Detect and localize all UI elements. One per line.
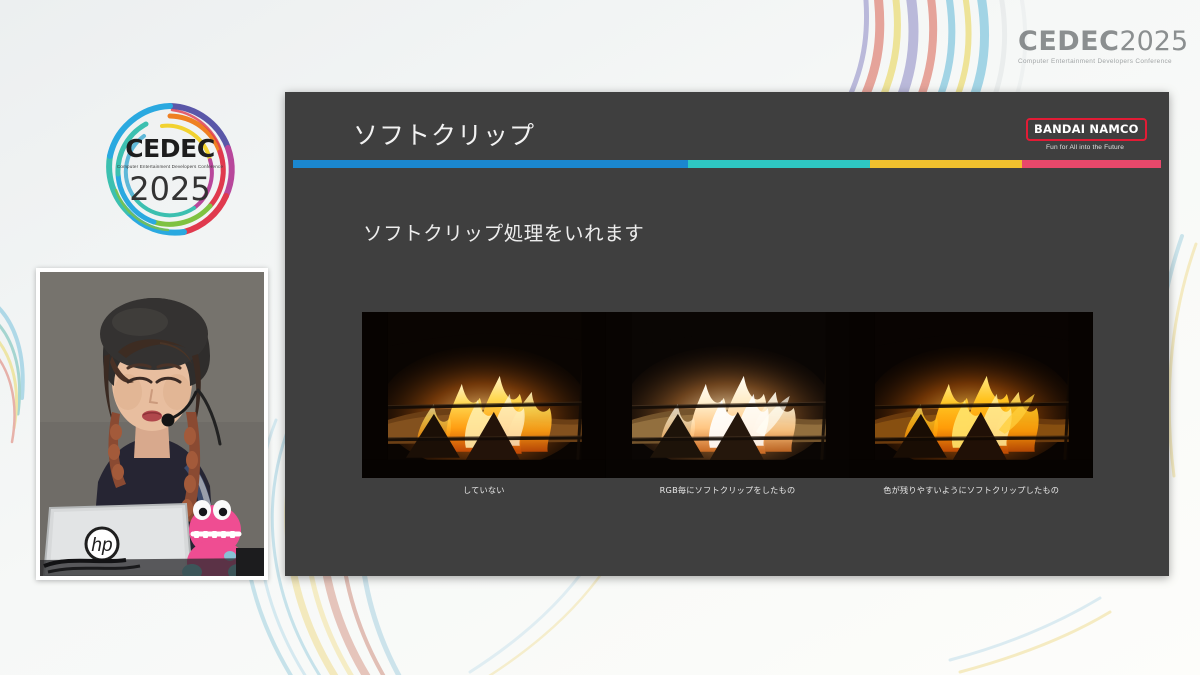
accent-segment-yellow <box>870 160 1022 168</box>
bandai-namco-name: BANDAI NAMCO <box>1034 122 1139 136</box>
cedec-wordmark-year: 2025 <box>1119 26 1188 57</box>
slide-accent-bar <box>293 160 1161 168</box>
caption-color-preserving-clip: 色が残りやすいようにソフトクリップしたもの <box>849 484 1093 496</box>
fire-comparison-strip <box>362 312 1093 478</box>
cedec-circle-logo: CEDEC Computer Entertainment Developers … <box>98 98 242 242</box>
cedec-logo-center-text: CEDEC Computer Entertainment Developers … <box>98 98 242 242</box>
bandai-namco-tagline: Fun for All into the Future <box>1026 144 1144 151</box>
cedec-wordmark-main: CEDEC2025 <box>1018 28 1178 55</box>
accent-segment-teal <box>688 160 870 168</box>
speaker-video-feed: hp <box>40 272 264 576</box>
svg-text:hp: hp <box>91 535 112 556</box>
presentation-stream-frame: CEDEC2025 Computer Entertainment Develop… <box>0 0 1200 675</box>
speaker-scene-illustration: hp <box>40 272 264 576</box>
fire-panel-no-clip <box>362 312 606 478</box>
accent-segment-pink <box>1022 160 1161 168</box>
cedec-logo-year: 2025 <box>129 173 210 205</box>
cedec-wordmark-subtitle: Computer Entertainment Developers Confer… <box>1018 58 1178 65</box>
fire-panel-color-preserving-clip <box>849 312 1093 478</box>
fire-image-color-preserving-clip <box>849 312 1093 478</box>
caption-no-clip: していない <box>362 484 606 496</box>
cedec-wordmark-text: CEDEC <box>1018 26 1119 57</box>
fire-panel-per-rgb-clip <box>606 312 850 478</box>
bandai-namco-badge: BANDAI NAMCO <box>1026 118 1147 141</box>
bandai-namco-logo: BANDAI NAMCO Fun for All into the Future <box>1026 118 1144 151</box>
slide-body-text: ソフトクリップ処理をいれます <box>363 217 644 246</box>
slide-title: ソフトクリップ <box>353 116 535 152</box>
cedec-logo-subtitle: Computer Entertainment Developers Confer… <box>117 164 223 169</box>
cedec-wordmark-logo: CEDEC2025 Computer Entertainment Develop… <box>1018 28 1178 65</box>
presentation-slide: ソフトクリップ BANDAI NAMCO Fun for All into th… <box>285 92 1169 576</box>
cedec-logo-main-text: CEDEC <box>125 136 215 161</box>
fire-image-per-rgb-clip <box>606 312 850 478</box>
caption-per-rgb-clip: RGB毎にソフトクリップをしたもの <box>606 484 850 496</box>
accent-segment-blue <box>293 160 688 168</box>
fire-panel-caption-row: していない RGB毎にソフトクリップをしたもの 色が残りやすいようにソフトクリッ… <box>362 484 1093 496</box>
fire-image-no-clip <box>362 312 606 478</box>
speaker-camera-panel: hp <box>36 268 268 580</box>
